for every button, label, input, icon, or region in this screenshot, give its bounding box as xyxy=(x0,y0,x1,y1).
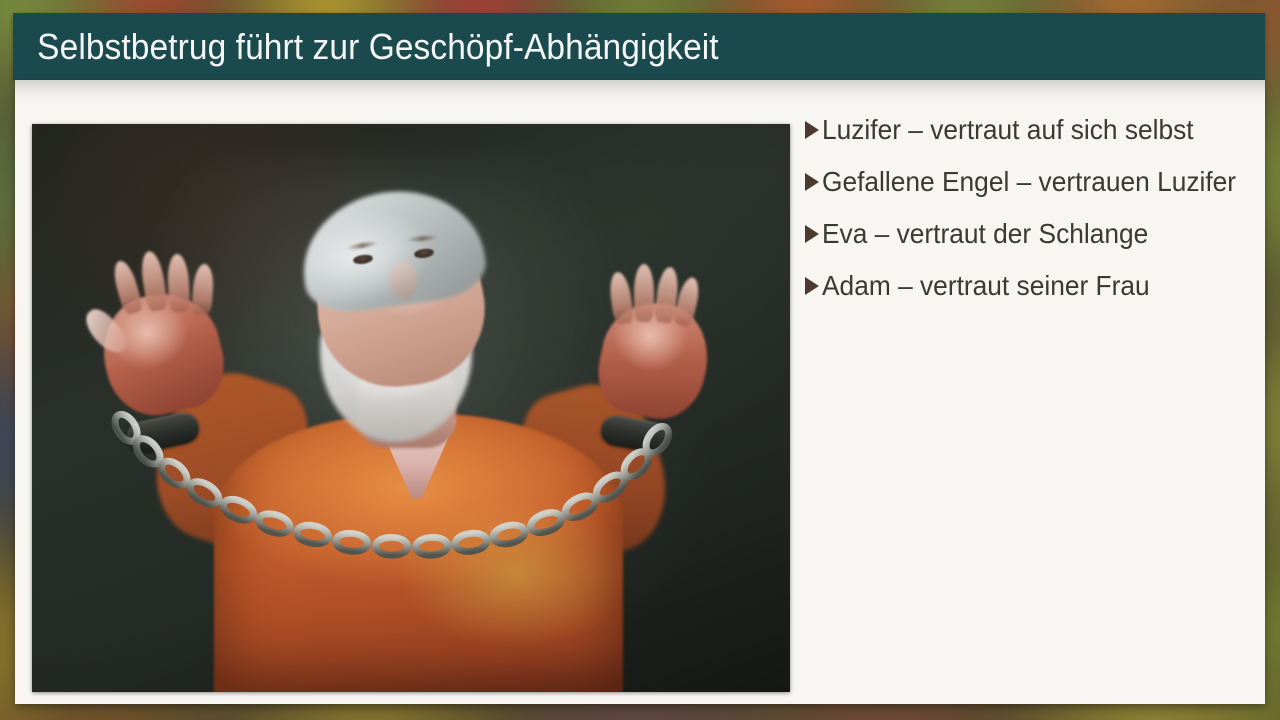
right-hand-finger xyxy=(634,264,654,322)
page-title: Selbstbetrug führt zur Geschöpf-Abhängig… xyxy=(13,26,719,68)
slide-title-bar: Selbstbetrug führt zur Geschöpf-Abhängig… xyxy=(13,13,1265,80)
list-item[interactable]: Luzifer – vertraut auf sich selbst xyxy=(805,112,1255,152)
list-item[interactable]: Adam – vertraut seiner Frau xyxy=(805,268,1255,308)
triangle-bullet-icon xyxy=(805,277,819,295)
panel-top-shadow xyxy=(15,80,1265,106)
list-item[interactable]: Eva – vertraut der Schlange xyxy=(805,216,1255,256)
triangle-bullet-icon xyxy=(805,225,819,243)
nose xyxy=(390,263,417,299)
slide-content-panel: Luzifer – vertraut auf sich selbst Gefal… xyxy=(15,80,1265,704)
list-item[interactable]: Gefallene Engel – vertrauen Luzifer xyxy=(805,164,1255,204)
list-item-label: Eva – vertraut der Schlange xyxy=(822,216,1148,253)
triangle-bullet-icon xyxy=(805,173,819,191)
bullet-list: Luzifer – vertraut auf sich selbst Gefal… xyxy=(805,112,1255,320)
list-item-label: Luzifer – vertraut auf sich selbst xyxy=(822,112,1194,149)
triangle-bullet-icon xyxy=(805,121,819,139)
list-item-label: Gefallene Engel – vertrauen Luzifer xyxy=(822,164,1236,201)
image-frame xyxy=(32,124,790,692)
presentation-slide: Selbstbetrug führt zur Geschöpf-Abhängig… xyxy=(0,0,1280,720)
list-item-label: Adam – vertraut seiner Frau xyxy=(822,268,1150,305)
